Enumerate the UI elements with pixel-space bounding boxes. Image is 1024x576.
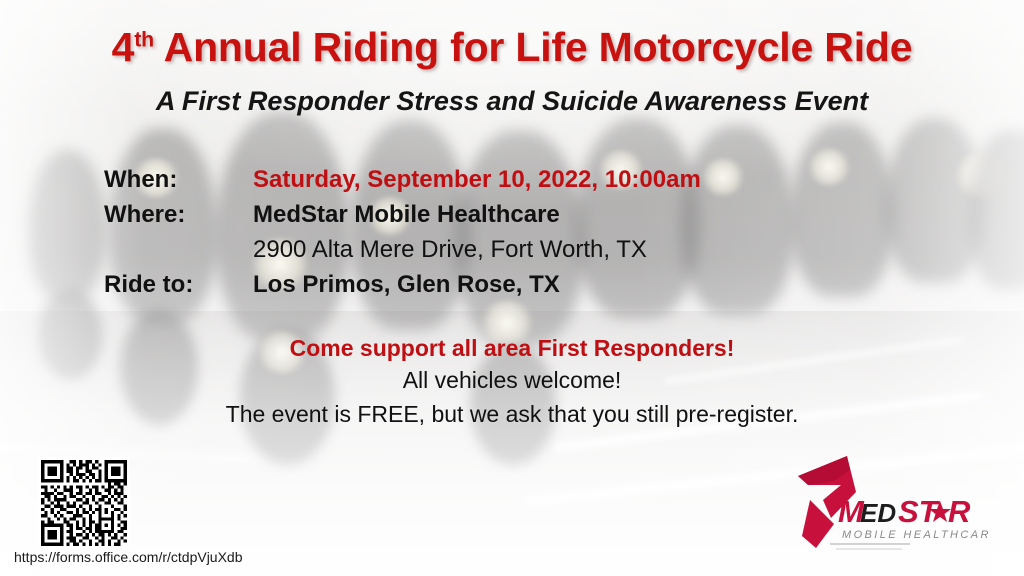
detail-label: Where: — [104, 201, 253, 229]
detail-row-where: Where: MedStar Mobile Healthcare — [104, 201, 904, 236]
detail-value-venue: MedStar Mobile Healthcare — [253, 201, 560, 229]
title-main-text: Annual Riding for Life Motorcycle Ride — [154, 24, 912, 70]
logo-wordmark-r: R — [948, 494, 971, 529]
title-ordinal-number: 4 — [112, 24, 135, 70]
event-details-list: When: Saturday, September 10, 2022, 10:0… — [104, 166, 904, 306]
call-to-action-block: Come support all area First Responders! … — [0, 333, 1024, 431]
title-ordinal-suffix: th — [134, 27, 154, 51]
detail-value-destination: Los Primos, Glen Rose, TX — [253, 271, 560, 299]
page-subtitle: A First Responder Stress and Suicide Awa… — [0, 86, 1024, 117]
registration-url[interactable]: https://forms.office.com/r/ctdpVjuXdb — [14, 549, 243, 565]
detail-value-datetime: Saturday, September 10, 2022, 10:00am — [253, 166, 701, 194]
detail-row-ride-to: Ride to: Los Primos, Glen Rose, TX — [104, 271, 904, 306]
cta-registration-note: The event is FREE, but we ask that you s… — [0, 397, 1024, 431]
medstar-logo-image: M ED ST R MOBILE HEALTHCARE — [790, 452, 990, 557]
page-title: 4th Annual Riding for Life Motorcycle Ri… — [0, 24, 1024, 71]
event-flyer: 4th Annual Riding for Life Motorcycle Ri… — [0, 0, 1024, 576]
medstar-logo: M ED ST R MOBILE HEALTHCARE — [790, 452, 990, 557]
detail-row-address: 2900 Alta Mere Drive, Fort Worth, TX — [104, 236, 904, 271]
logo-wordmark-ed: ED — [860, 498, 896, 528]
logo-tagline: MOBILE HEALTHCARE — [842, 529, 990, 541]
qr-code-image[interactable] — [30, 457, 138, 549]
qr-code[interactable] — [30, 457, 138, 549]
flyer-content: 4th Annual Riding for Life Motorcycle Ri… — [0, 0, 1024, 576]
cta-headline: Come support all area First Responders! — [0, 333, 1024, 363]
detail-label: Ride to: — [104, 271, 253, 299]
detail-row-when: When: Saturday, September 10, 2022, 10:0… — [104, 166, 904, 201]
detail-label: When: — [104, 166, 253, 194]
detail-value-address: 2900 Alta Mere Drive, Fort Worth, TX — [253, 236, 647, 264]
cta-vehicles-note: All vehicles welcome! — [0, 363, 1024, 397]
